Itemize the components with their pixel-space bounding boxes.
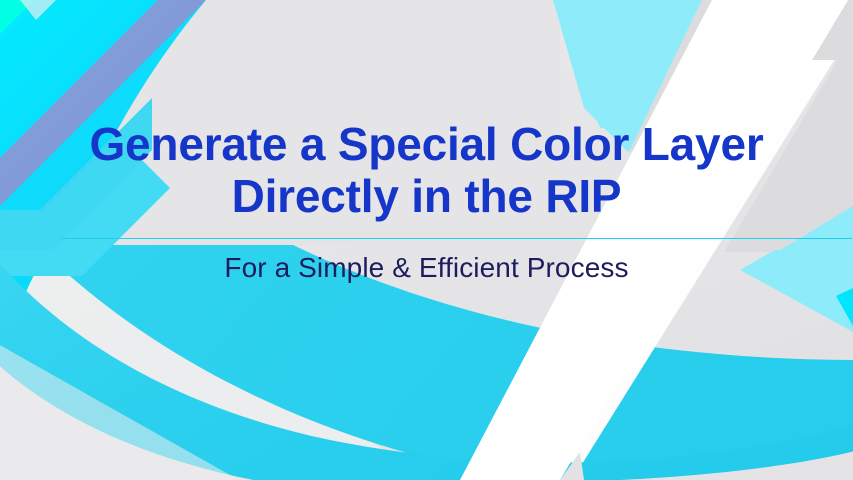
title-line-2: Directly in the RIP (0, 170, 853, 222)
presentation-slide: Generate a Special Color Layer Directly … (0, 0, 853, 480)
slide-text-layer: Generate a Special Color Layer Directly … (0, 0, 853, 480)
title-divider-rule (62, 238, 852, 239)
title-line-1: Generate a Special Color Layer (0, 118, 853, 170)
slide-title: Generate a Special Color Layer Directly … (0, 118, 853, 222)
subtitle-text: For a Simple & Efficient Process (224, 251, 628, 285)
slide-subtitle: For a Simple & Efficient Process (0, 251, 853, 285)
